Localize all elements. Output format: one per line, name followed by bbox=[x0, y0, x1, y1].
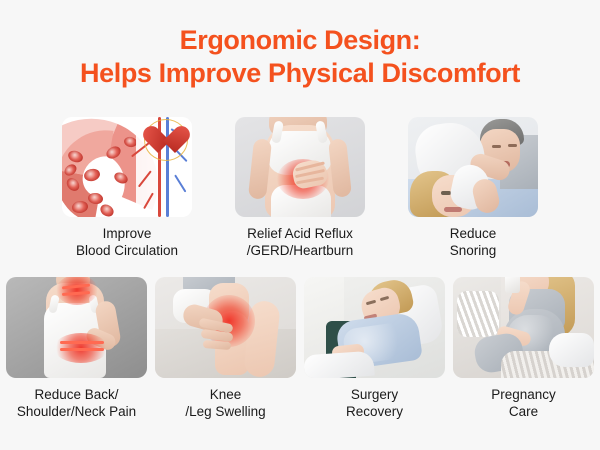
caption-line-1: Surgery bbox=[346, 386, 403, 403]
caption-line-2: Snoring bbox=[450, 242, 497, 259]
back-shoulder-neck-pain-photo bbox=[6, 277, 147, 378]
blood-circulation-illustration bbox=[62, 117, 192, 217]
benefit-row-1: Improve Blood Circulation bbox=[0, 117, 600, 259]
caption-line-2: /Leg Swelling bbox=[185, 403, 265, 420]
benefit-caption: Reduce Snoring bbox=[450, 225, 497, 259]
benefit-card-surgery-recovery[interactable]: Surgery Recovery bbox=[304, 277, 445, 420]
benefit-row-2: Reduce Back/ Shoulder/Neck Pain Knee bbox=[0, 277, 600, 420]
benefit-caption: Knee /Leg Swelling bbox=[185, 386, 265, 420]
caption-line-2: Blood Circulation bbox=[76, 242, 178, 259]
caption-line-1: Reduce Back/ bbox=[17, 386, 136, 403]
benefit-card-pregnancy-care[interactable]: Pregnancy Care bbox=[453, 277, 594, 420]
benefit-card-knee-leg-swelling[interactable]: Knee /Leg Swelling bbox=[155, 277, 296, 420]
caption-line-1: Knee bbox=[185, 386, 265, 403]
benefit-caption: Relief Acid Reflux /GERD/Heartburn bbox=[247, 225, 354, 259]
caption-line-1: Relief Acid Reflux bbox=[247, 225, 354, 242]
caption-line-1: Reduce bbox=[450, 225, 497, 242]
surgery-recovery-photo bbox=[304, 277, 445, 378]
knee-leg-swelling-photo bbox=[155, 277, 296, 378]
benefit-caption: Improve Blood Circulation bbox=[76, 225, 178, 259]
ergonomic-design-infographic: Ergonomic Design: Helps Improve Physical… bbox=[0, 0, 600, 450]
snoring-couple-photo bbox=[408, 117, 538, 217]
benefit-card-relief-acid-reflux[interactable]: Relief Acid Reflux /GERD/Heartburn bbox=[235, 117, 365, 259]
pregnancy-care-photo bbox=[453, 277, 594, 378]
title-line-1: Ergonomic Design: bbox=[0, 24, 600, 57]
benefit-caption: Reduce Back/ Shoulder/Neck Pain bbox=[17, 386, 136, 420]
caption-line-2: Shoulder/Neck Pain bbox=[17, 403, 136, 420]
benefit-caption: Surgery Recovery bbox=[346, 386, 403, 420]
page-title: Ergonomic Design: Helps Improve Physical… bbox=[0, 24, 600, 90]
caption-line-1: Improve bbox=[76, 225, 178, 242]
benefit-card-improve-blood-circulation[interactable]: Improve Blood Circulation bbox=[62, 117, 192, 259]
caption-line-2: Recovery bbox=[346, 403, 403, 420]
benefit-card-reduce-back-shoulder-neck-pain[interactable]: Reduce Back/ Shoulder/Neck Pain bbox=[6, 277, 147, 420]
benefit-card-reduce-snoring[interactable]: Reduce Snoring bbox=[408, 117, 538, 259]
caption-line-2: /GERD/Heartburn bbox=[247, 242, 354, 259]
benefit-caption: Pregnancy Care bbox=[491, 386, 556, 420]
title-line-2: Helps Improve Physical Discomfort bbox=[0, 57, 600, 90]
acid-reflux-photo bbox=[235, 117, 365, 217]
caption-line-2: Care bbox=[491, 403, 556, 420]
caption-line-1: Pregnancy bbox=[491, 386, 556, 403]
